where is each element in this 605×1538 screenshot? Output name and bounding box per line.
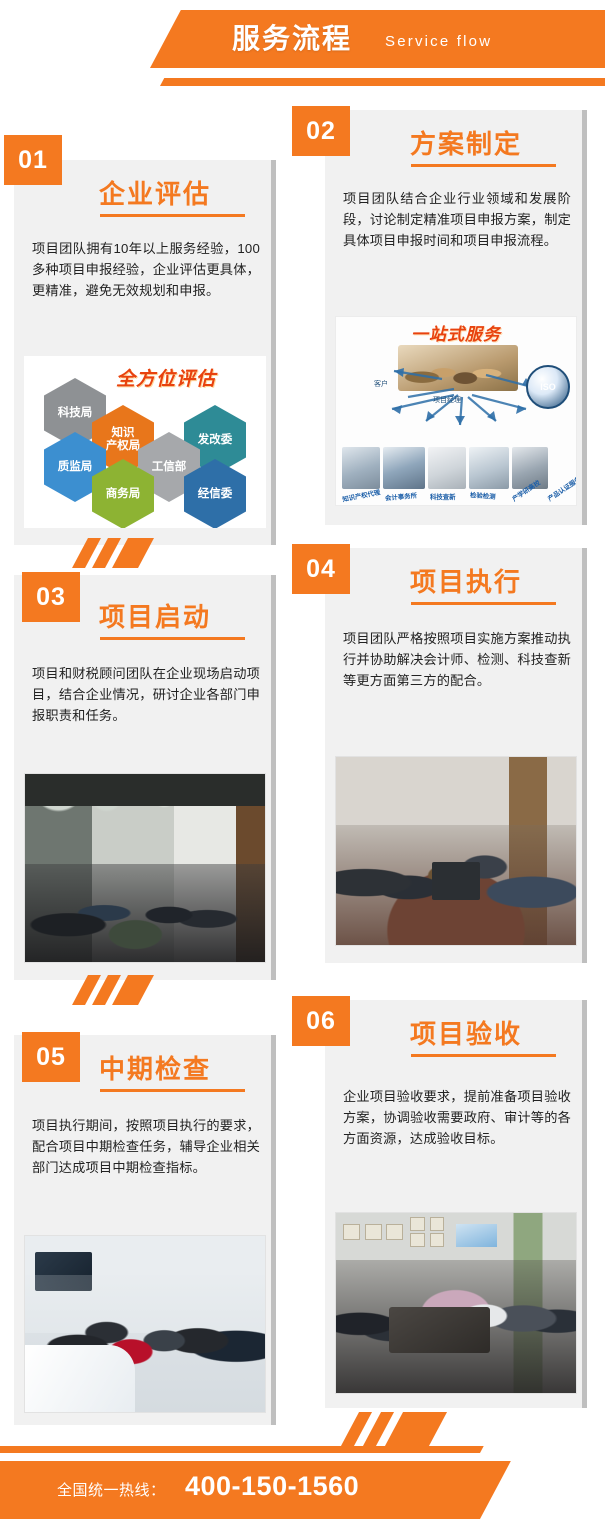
iso-badge-label: ISO (540, 382, 556, 392)
step-body-04: 项目团队严格按照项目实施方案推动执行并协助解决会计师、检测、科技查新等更方面第三… (343, 628, 571, 691)
header-banner-shape (150, 10, 605, 68)
one-stop-thumb-accounting (383, 447, 425, 489)
hex-node-label: 质监局 (58, 461, 93, 474)
step-number-badge-02: 02 (292, 106, 350, 156)
step-number-badge-03: 03 (22, 572, 80, 622)
title-underline-01 (100, 214, 245, 217)
one-stop-thumb-testing (469, 447, 509, 489)
one-stop-node-customer: 客户 (374, 379, 388, 389)
hex-chart-heading: 全方位评估 (116, 364, 216, 391)
page-header: 服务流程 Service flow (0, 0, 605, 112)
title-underline-02 (411, 164, 556, 167)
step-card-04[interactable]: 04 项目执行 项目团队严格按照项目实施方案推动执行并协助解决会计师、检测、科技… (325, 548, 587, 963)
page-subtitle: Service flow (385, 32, 492, 52)
step-card-03[interactable]: 03 项目启动 项目和财税顾问团队在企业现场启动项目，结合企业情况，研讨企业各部… (14, 575, 276, 980)
step-title-02: 方案制定 (410, 124, 522, 161)
hexagon-assessment-chart: 全方位评估 科技局 知识 产权局 发改委 质监局 工信部 商务局 (24, 356, 266, 528)
title-underline-05 (100, 1089, 245, 1092)
one-stop-thumb-search (428, 447, 466, 489)
showroom-visit-photo (24, 1235, 266, 1413)
step-title-03: 项目启动 (99, 597, 211, 634)
hotline-number[interactable]: 400-150-1560 (185, 1471, 359, 1502)
step-title-01: 企业评估 (99, 174, 211, 211)
acceptance-meeting-photo (335, 1212, 577, 1394)
one-stop-node-manager: 项目经理 (433, 395, 461, 405)
step-card-06[interactable]: 06 项目验收 企业项目验收要求，提前准备项目验收方案，协调验收需要政府、审计等… (325, 1000, 587, 1408)
step-number-badge-04: 04 (292, 544, 350, 594)
one-stop-thumb-ip (342, 447, 380, 489)
step-card-02[interactable]: 02 方案制定 项目团队结合企业行业领域和发展阶段，讨论制定精准项目申报方案，制… (325, 110, 587, 525)
step-body-03: 项目和财税顾问团队在企业现场启动项目，结合企业情况，研讨企业各部门申报职责和任务… (32, 663, 260, 726)
title-underline-06 (411, 1054, 556, 1057)
title-underline-03 (100, 637, 245, 640)
divider-chevrons-left (80, 538, 150, 568)
step-title-05: 中期检查 (99, 1049, 211, 1086)
header-accent-stripe (160, 78, 605, 86)
step-body-06: 企业项目验收要求，提前准备项目验收方案，协调验收需要政府、审计等的各方面资源，达… (343, 1086, 571, 1149)
one-stop-leaf-3: 检验检测 (470, 490, 496, 501)
step-body-05: 项目执行期间，按照项目执行的要求，配合项目中期检查任务，辅导企业相关部门达成项目… (32, 1115, 260, 1178)
page-title: 服务流程 (232, 22, 352, 56)
hex-node-label: 发改委 (198, 434, 233, 447)
hex-node-label: 科技局 (58, 407, 93, 420)
hex-node-label: 经信委 (198, 488, 233, 501)
step-number-badge-05: 05 (22, 1032, 80, 1082)
step-body-02: 项目团队结合企业行业领域和发展阶段，讨论制定精准项目申报方案，制定具体项目申报时… (343, 188, 571, 251)
step-number-badge-06: 06 (292, 996, 350, 1046)
page-footer: 全国统一热线： 400-150-1560 (0, 1428, 605, 1538)
hex-node-label: 工信部 (152, 461, 187, 474)
meeting-laptops-photo (335, 756, 577, 946)
step-title-06: 项目验收 (410, 1014, 522, 1051)
hex-node-label: 商务局 (106, 488, 141, 501)
iso-certification-icon: ISO (526, 365, 570, 409)
hex-node-label: 知识 产权局 (106, 427, 141, 453)
step-title-04: 项目执行 (410, 562, 522, 599)
divider-chevrons-left-2 (80, 975, 150, 1005)
title-underline-04 (411, 602, 556, 605)
step-card-01[interactable]: 01 企业评估 项目团队拥有10年以上服务经验，100多种项目申报经验，企业评估… (14, 160, 276, 545)
conference-room-photo (24, 773, 266, 963)
service-flow-infographic: 服务流程 Service flow 01 企业评估 项目团队拥有10年以上服务经… (0, 0, 605, 1538)
one-stop-service-diagram: 一站式服务 (335, 316, 577, 506)
step-number-badge-01: 01 (4, 135, 62, 185)
hotline-label: 全国统一热线： (57, 1479, 166, 1500)
step-body-01: 项目团队拥有10年以上服务经验，100多种项目申报经验，企业评估更具体，更精准，… (32, 238, 260, 301)
one-stop-leaf-2: 科技查新 (430, 492, 456, 501)
step-card-05[interactable]: 05 中期检查 项目执行期间，按照项目执行的要求，配合项目中期检查任务，辅导企业… (14, 1035, 276, 1425)
footer-accent-stripe (0, 1446, 484, 1453)
